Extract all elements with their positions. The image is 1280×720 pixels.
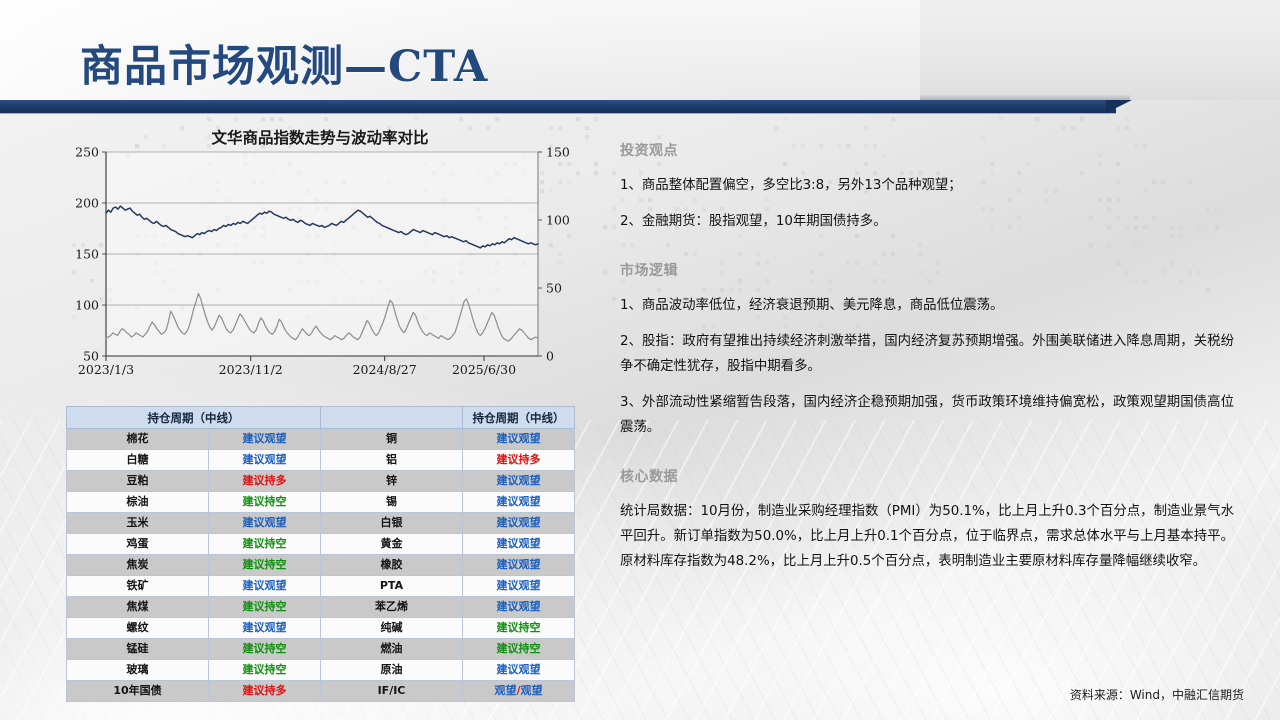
commodity-name-right: 铝 [321,450,463,471]
section-market-logic: 市场逻辑 1、商品波动率低位，经济衰退预期、美元降息，商品低位震荡。2、股指：政… [620,260,1234,440]
signal-right: 建议持空 [463,618,575,639]
page-title: 商品市场观测—CTA [80,32,488,94]
svg-text:100: 100 [546,213,570,228]
table-row: 白糖建议观望铝建议持多 [67,450,575,471]
commodity-name-right: 铜 [321,429,463,450]
section-investment-view: 投资观点 1、商品整体配置偏空，多空比3:8，另外13个品种观望；2、金融期货：… [620,140,1234,234]
slide-header: 商品市场观测—CTA [0,0,1280,114]
section-heading-investment-view: 投资观点 [620,140,1234,160]
commodity-name-right: 苯乙烯 [321,597,463,618]
header-accent-bar-tip [1106,100,1132,113]
svg-text:100: 100 [75,298,99,313]
signal-right: 建议观望 [463,660,575,681]
svg-text:2025/6/30: 2025/6/30 [452,362,516,377]
source-note: 资料来源：Wind，中融汇信期货 [0,686,1244,703]
signal-left: 建议观望 [209,513,321,534]
paragraph: 2、股指：政府有望推出持续经济刺激举措，国内经济复苏预期增强。外围美联储进入降息… [620,329,1234,379]
svg-text:200: 200 [75,196,99,211]
commodity-name-left: 棕油 [67,492,209,513]
svg-text:0: 0 [546,349,554,364]
index-volatility-line-chart: 501001502002500501001502023/1/32023/11/2… [62,144,578,384]
svg-text:2024/8/27: 2024/8/27 [353,362,417,377]
signal-left: 建议持多 [209,471,321,492]
table-row: 铁矿建议观望PTA建议观望 [67,576,575,597]
chart-panel: 文华商品指数走势与波动率对比 5010015020025005010015020… [62,126,578,384]
svg-text:2023/11/2: 2023/11/2 [219,362,283,377]
signal-left: 建议持空 [209,555,321,576]
svg-text:250: 250 [75,145,99,160]
section-body-market-logic: 1、商品波动率低位，经济衰退预期、美元降息，商品低位震荡。2、股指：政府有望推出… [620,293,1234,440]
commodity-name-left: 焦煤 [67,597,209,618]
signal-left: 建议持空 [209,492,321,513]
commodity-name-left: 白糖 [67,450,209,471]
signal-left: 建议观望 [209,450,321,471]
signal-right: 建议观望 [463,576,575,597]
slide-root: 商品市场观测—CTA 文华商品指数走势与波动率对比 50100150200250… [0,0,1280,720]
table-row: 鸡蛋建议持空黄金建议观望 [67,534,575,555]
paragraph: 2、金融期货：股指观望，10年期国债持多。 [620,209,1234,234]
table-row: 玉米建议观望白银建议观望 [67,513,575,534]
section-heading-core-data: 核心数据 [620,466,1234,486]
commodity-name-right: 原油 [321,660,463,681]
paragraph: 1、商品整体配置偏空，多空比3:8，另外13个品种观望； [620,173,1234,198]
commodity-name-right: 纯碱 [321,618,463,639]
header-right-block [920,0,1280,100]
header-accent-bar [0,100,1116,114]
commodity-name-left: 螺纹 [67,618,209,639]
paragraph: 1、商品波动率低位，经济衰退预期、美元降息，商品低位震荡。 [620,293,1234,318]
table-header-left: 持仓周期（中线） [67,407,321,429]
commodity-name-left: 棉花 [67,429,209,450]
section-body-investment-view: 1、商品整体配置偏空，多空比3:8，另外13个品种观望；2、金融期货：股指观望，… [620,173,1234,234]
svg-text:2023/1/3: 2023/1/3 [78,362,134,377]
commentary-panel: 投资观点 1、商品整体配置偏空，多空比3:8，另外13个品种观望；2、金融期货：… [620,140,1234,600]
signal-right: 建议观望 [463,513,575,534]
table-row: 焦煤建议持空苯乙烯建议观望 [67,597,575,618]
table-header-row: 持仓周期（中线） 持仓周期（中线） [67,407,575,429]
table-header-right: 持仓周期（中线） [463,407,575,429]
section-body-core-data: 统计局数据：10月份，制造业采购经理指数（PMI）为50.1%，比上月上升0.3… [620,499,1234,574]
commodity-name-right: 橡胶 [321,555,463,576]
commodity-name-left: 锰硅 [67,639,209,660]
commodity-name-right: 白银 [321,513,463,534]
table-body: 棉花建议观望铜建议观望白糖建议观望铝建议持多豆粕建议持多锌建议观望棕油建议持空锡… [67,429,575,702]
svg-text:150: 150 [75,247,99,262]
commodity-name-right: 锌 [321,471,463,492]
commodity-name-left: 焦炭 [67,555,209,576]
table-row: 焦炭建议持空橡胶建议观望 [67,555,575,576]
section-heading-market-logic: 市场逻辑 [620,260,1234,280]
signal-left: 建议观望 [209,618,321,639]
table-row: 豆粕建议持多锌建议观望 [67,471,575,492]
signal-left: 建议持空 [209,534,321,555]
commodity-name-left: 铁矿 [67,576,209,597]
commodity-name-right: 燃油 [321,639,463,660]
table-row: 棉花建议观望铜建议观望 [67,429,575,450]
position-signals-table: 持仓周期（中线） 持仓周期（中线） 棉花建议观望铜建议观望白糖建议观望铝建议持多… [66,406,575,702]
signal-right: 建议观望 [463,492,575,513]
table-row: 玻璃建议持空原油建议观望 [67,660,575,681]
table-header-spacer [321,407,463,429]
commodity-name-right: PTA [321,576,463,597]
signal-left: 建议持空 [209,660,321,681]
signal-left: 建议观望 [209,576,321,597]
signal-right: 建议观望 [463,471,575,492]
commodity-name-left: 玉米 [67,513,209,534]
commodity-name-left: 豆粕 [67,471,209,492]
signal-right: 建议观望 [463,597,575,618]
commodity-name-right: 黄金 [321,534,463,555]
table-row: 棕油建议持空锡建议观望 [67,492,575,513]
signals-table-wrapper: 持仓周期（中线） 持仓周期（中线） 棉花建议观望铜建议观望白糖建议观望铝建议持多… [66,406,574,702]
signal-left: 建议观望 [209,429,321,450]
signal-right: 建议持空 [463,639,575,660]
commodity-name-right: 锡 [321,492,463,513]
table-head: 持仓周期（中线） 持仓周期（中线） [67,407,575,429]
commodity-name-left: 玻璃 [67,660,209,681]
svg-text:50: 50 [546,281,562,296]
signal-right: 建议观望 [463,555,575,576]
paragraph: 3、外部流动性紧缩暂告段落，国内经济企稳预期加强，货币政策环境维持偏宽松，政策观… [620,390,1234,440]
section-core-data: 核心数据 统计局数据：10月份，制造业采购经理指数（PMI）为50.1%，比上月… [620,466,1234,574]
signal-left: 建议持空 [209,639,321,660]
table-row: 锰硅建议持空燃油建议持空 [67,639,575,660]
paragraph: 统计局数据：10月份，制造业采购经理指数（PMI）为50.1%，比上月上升0.3… [620,499,1234,574]
signal-right: 建议观望 [463,429,575,450]
svg-text:150: 150 [546,145,570,160]
table-row: 螺纹建议观望纯碱建议持空 [67,618,575,639]
signal-right: 建议观望 [463,534,575,555]
commodity-name-left: 鸡蛋 [67,534,209,555]
signal-left: 建议持空 [209,597,321,618]
signal-right: 建议持多 [463,450,575,471]
